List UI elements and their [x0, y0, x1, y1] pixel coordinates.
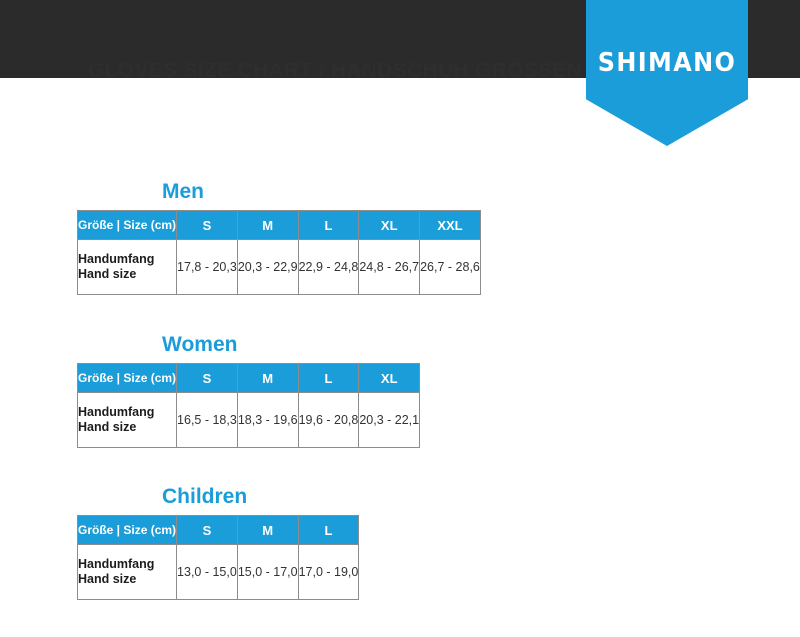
row-label-line2: Hand size	[78, 420, 136, 434]
section-title-men: Men	[162, 180, 204, 204]
value-xxl: 26,7 - 28,6	[420, 240, 481, 295]
table-row: Handumfang Hand size 17,8 - 20,3 20,3 - …	[78, 240, 481, 295]
column-header-s: S	[177, 211, 238, 240]
column-header-xxl: XXL	[420, 211, 481, 240]
row-label-line1: Handumfang	[78, 252, 154, 266]
row-label-line1: Handumfang	[78, 405, 154, 419]
row-label-hand-size: Handumfang Hand size	[78, 240, 177, 295]
row-label-hand-size: Handumfang Hand size	[78, 393, 177, 448]
column-header-label: Größe | Size (cm)	[78, 516, 177, 545]
value-m: 18,3 - 19,6	[237, 393, 298, 448]
column-header-l: L	[298, 516, 359, 545]
table-header-row: Größe | Size (cm) S M L	[78, 516, 359, 545]
value-xl: 24,8 - 26,7	[359, 240, 420, 295]
shimano-logo-pennant: SHIMANO	[586, 0, 748, 146]
value-m: 20,3 - 22,9	[237, 240, 298, 295]
value-l: 19,6 - 20,8	[298, 393, 359, 448]
column-header-xl: XL	[359, 364, 420, 393]
value-l: 22,9 - 24,8	[298, 240, 359, 295]
value-s: 16,5 - 18,3	[177, 393, 238, 448]
row-label-line1: Handumfang	[78, 557, 154, 571]
table-header-row: Größe | Size (cm) S M L XL XXL	[78, 211, 481, 240]
value-s: 17,8 - 20,3	[177, 240, 238, 295]
table-row: Handumfang Hand size 16,5 - 18,3 18,3 - …	[78, 393, 420, 448]
page-title: GLOVES SIZE CHART / HANDSCHUH GRÖSSEN	[88, 58, 582, 84]
row-label-hand-size: Handumfang Hand size	[78, 545, 177, 600]
size-table-men: Größe | Size (cm) S M L XL XXL Handumfan…	[77, 210, 481, 295]
column-header-s: S	[177, 364, 238, 393]
table-header-row: Größe | Size (cm) S M L XL	[78, 364, 420, 393]
value-s: 13,0 - 15,0	[177, 545, 238, 600]
column-header-xl: XL	[359, 211, 420, 240]
column-header-m: M	[237, 516, 298, 545]
column-header-label: Größe | Size (cm)	[78, 211, 177, 240]
section-title-women: Women	[162, 333, 237, 357]
value-l: 17,0 - 19,0	[298, 545, 359, 600]
column-header-l: L	[298, 211, 359, 240]
size-table-women: Größe | Size (cm) S M L XL Handumfang Ha…	[77, 363, 420, 448]
column-header-s: S	[177, 516, 238, 545]
section-title-children: Children	[162, 485, 247, 509]
table-row: Handumfang Hand size 13,0 - 15,0 15,0 - …	[78, 545, 359, 600]
row-label-line2: Hand size	[78, 572, 136, 586]
value-xl: 20,3 - 22,1	[359, 393, 420, 448]
column-header-m: M	[237, 364, 298, 393]
column-header-label: Größe | Size (cm)	[78, 364, 177, 393]
size-table-children: Größe | Size (cm) S M L Handumfang Hand …	[77, 515, 359, 600]
shimano-wordmark: SHIMANO	[592, 48, 741, 78]
value-m: 15,0 - 17,0	[237, 545, 298, 600]
column-header-m: M	[237, 211, 298, 240]
row-label-line2: Hand size	[78, 267, 136, 281]
column-header-l: L	[298, 364, 359, 393]
